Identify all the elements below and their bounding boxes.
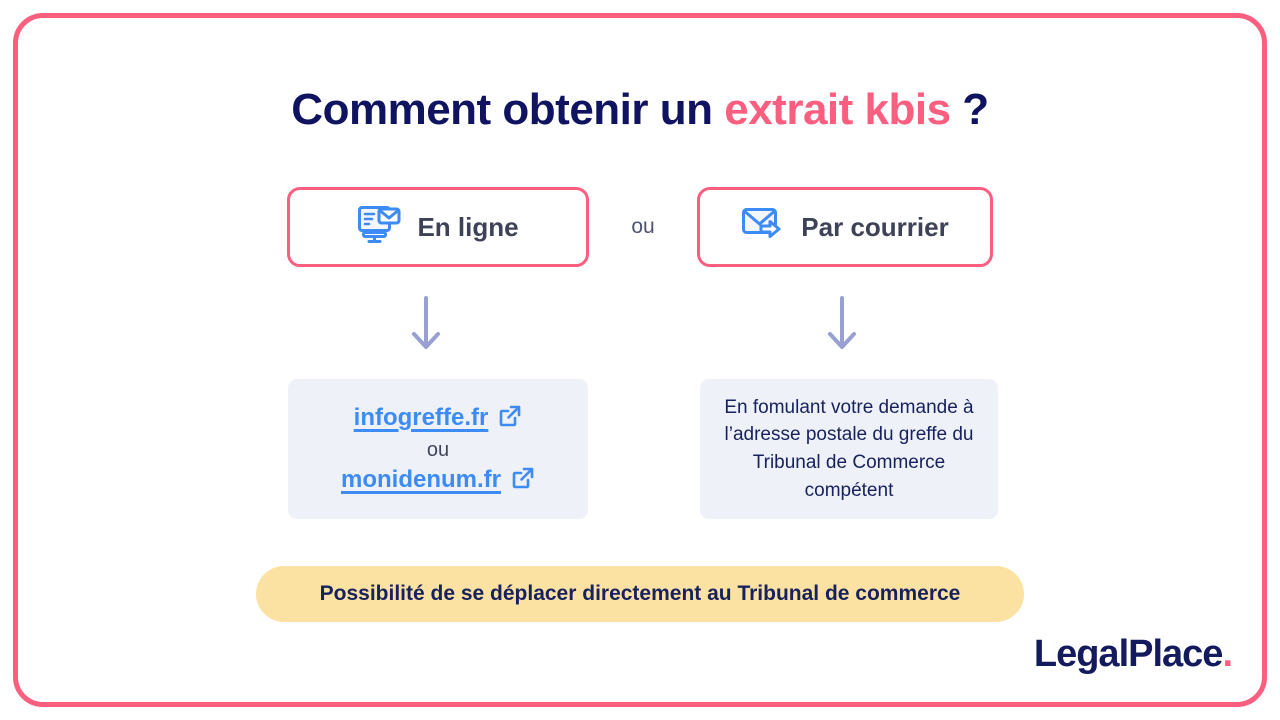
page-title-lead: Comment obtenir un xyxy=(291,85,724,134)
option-label-mail: Par courrier xyxy=(801,212,948,243)
option-box-mail[interactable]: Par courrier xyxy=(697,187,993,267)
page-title: Comment obtenir un extrait kbis ? xyxy=(18,85,1262,135)
link-row-monidenum[interactable]: monidenum.fr xyxy=(341,466,535,495)
link-monidenum[interactable]: monidenum.fr xyxy=(341,466,501,494)
result-text-mail: En fomulant votre demande à l’adresse po… xyxy=(700,394,998,504)
result-row: infogreffe.fr ou monidenum.fr xyxy=(18,379,1262,524)
infographic-frame: Comment obtenir un extrait kbis ? En lig… xyxy=(13,13,1267,707)
arrow-row xyxy=(18,296,1262,358)
arrow-down-icon xyxy=(822,296,862,359)
result-box-online: infogreffe.fr ou monidenum.fr xyxy=(288,379,588,519)
page-title-trail: ? xyxy=(951,85,989,134)
option-row: En ligne ou Par courrier xyxy=(18,182,1262,272)
link-row-infogreffe[interactable]: infogreffe.fr xyxy=(354,404,523,433)
monitor-mail-icon xyxy=(357,205,401,250)
arrow-down-icon xyxy=(406,296,446,359)
result-box-mail: En fomulant votre demande à l’adresse po… xyxy=(700,379,998,519)
option-box-online[interactable]: En ligne xyxy=(287,187,589,267)
external-link-icon xyxy=(511,466,535,495)
footer-note-pill: Possibilité de se déplacer directement a… xyxy=(256,566,1024,622)
envelope-arrow-icon xyxy=(741,205,785,250)
logo-dot: . xyxy=(1222,633,1232,675)
logo-name: LegalPlace xyxy=(1034,633,1223,675)
result-separator: ou xyxy=(427,439,449,462)
link-infogreffe[interactable]: infogreffe.fr xyxy=(354,404,489,432)
option-label-online: En ligne xyxy=(417,212,518,243)
footer-note-label: Possibilité de se déplacer directement a… xyxy=(320,582,961,606)
external-link-icon xyxy=(498,404,522,433)
option-separator: ou xyxy=(589,215,697,239)
legalplace-logo: LegalPlace. xyxy=(1034,633,1232,676)
page-title-accent: extrait kbis xyxy=(724,85,950,134)
